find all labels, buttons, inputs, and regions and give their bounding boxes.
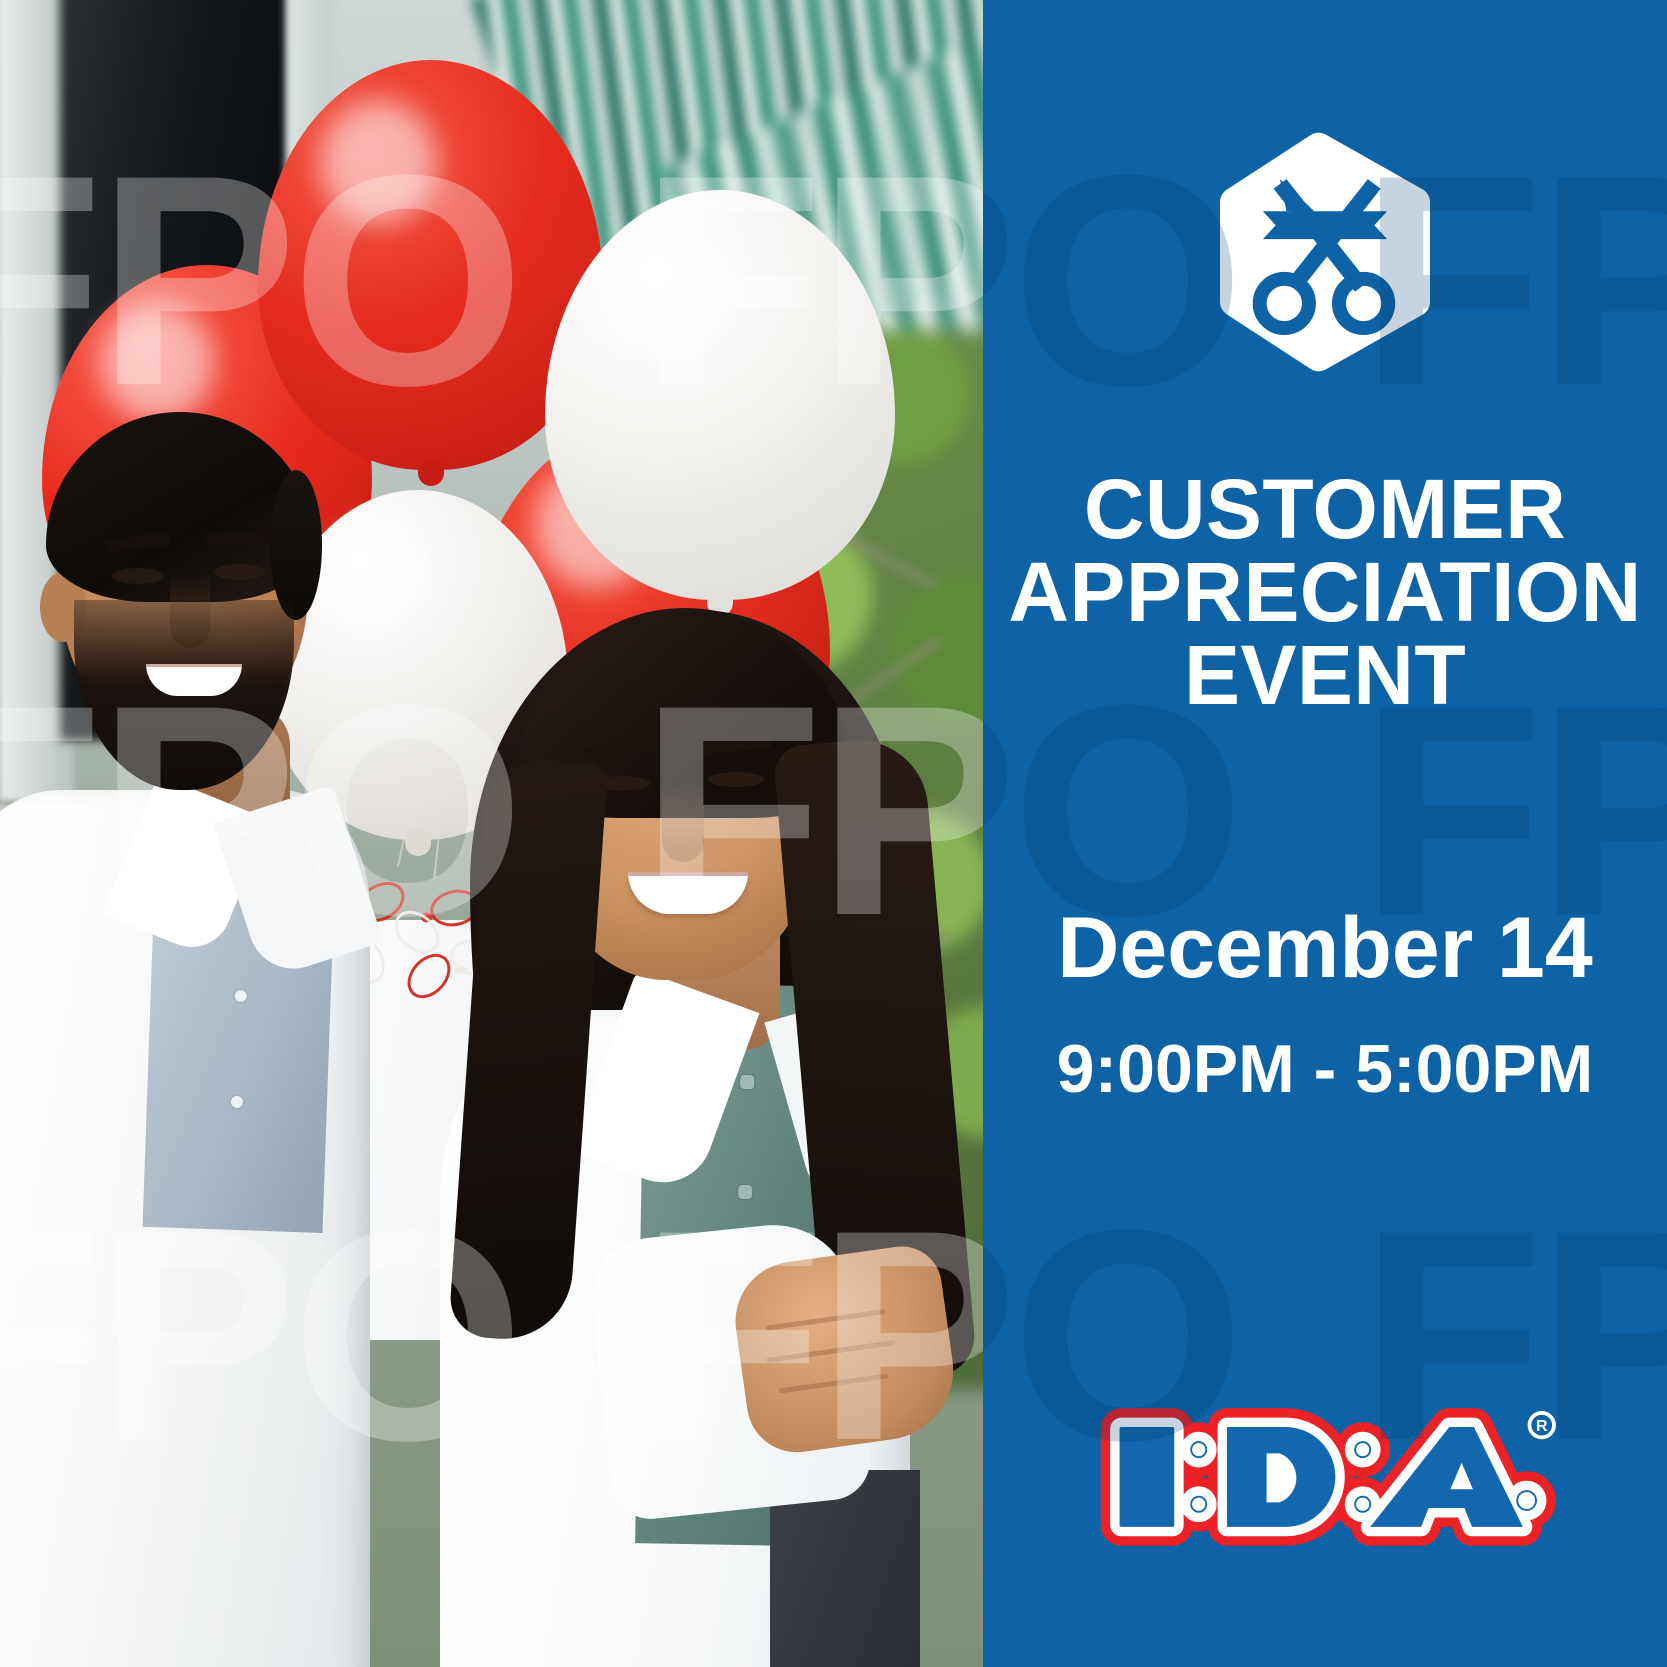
headline-line-3: EVENT [1005,634,1645,717]
event-photo [0,0,983,1667]
headline-line-2: APPRECIATION [1005,551,1645,634]
svg-text:R: R [1536,1418,1548,1435]
event-time: 9:00PM - 5:00PM [1057,1035,1594,1103]
page-title: CUSTOMER APPRECIATION EVENT [1005,468,1645,717]
female-eye-right [708,772,764,787]
event-date: December 14 [1057,905,1592,991]
male-eye-left [112,568,164,584]
female-nose [662,782,704,862]
male-eye-right [214,564,266,580]
ida-logo: R [1080,1381,1570,1571]
poster-canvas: CUSTOMER APPRECIATION EVENT December 14 … [0,0,1667,1667]
info-panel: CUSTOMER APPRECIATION EVENT December 14 … [983,0,1667,1667]
headline-line-1: CUSTOMER [1005,468,1645,551]
ribbon-cutting-scissors-hex-icon [1217,132,1433,372]
